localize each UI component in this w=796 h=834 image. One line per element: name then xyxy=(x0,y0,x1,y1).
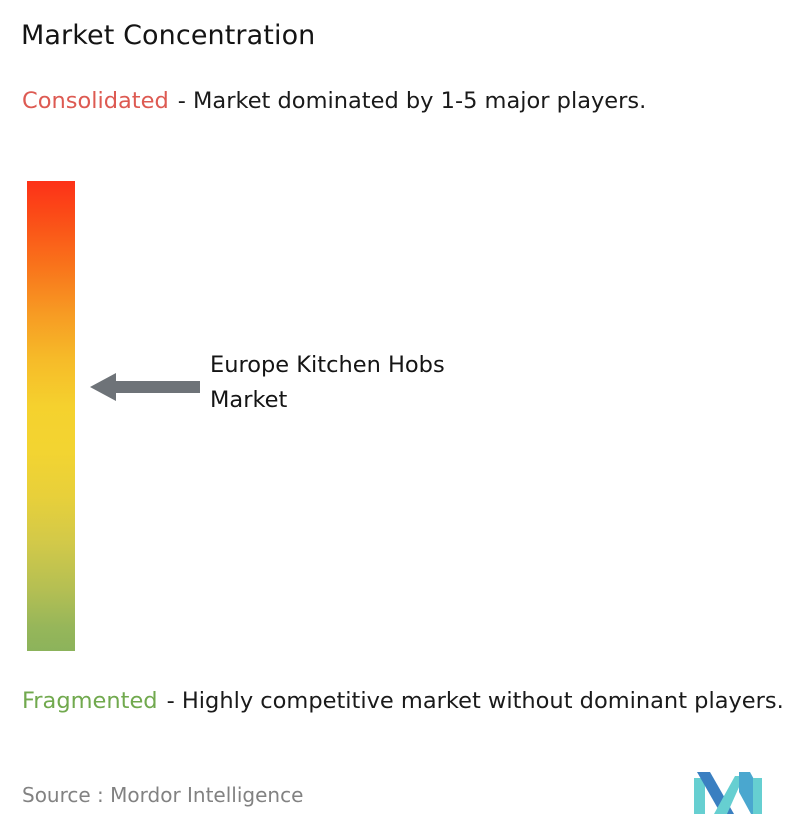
concentration-gradient-bar xyxy=(27,181,75,651)
market-concentration-infographic: Market Concentration Consolidated- Marke… xyxy=(0,0,796,834)
source-attribution: Source : Mordor Intelligence xyxy=(22,783,303,807)
fragmented-caption: Fragmented- Highly competitive market wi… xyxy=(22,686,784,717)
annotation-label: Europe Kitchen Hobs Market xyxy=(210,348,630,418)
fragmented-description: - Highly competitive market without domi… xyxy=(167,688,784,714)
left-arrow-icon xyxy=(90,370,200,404)
market-position-annotation: Europe Kitchen Hobs Market xyxy=(90,348,690,418)
annotation-label-line2: Market xyxy=(210,383,630,418)
fragmented-keyword: Fragmented xyxy=(22,688,158,714)
annotation-label-line1: Europe Kitchen Hobs xyxy=(210,348,630,383)
page-title: Market Concentration xyxy=(21,20,315,51)
consolidated-caption: Consolidated- Market dominated by 1-5 ma… xyxy=(22,86,764,117)
consolidated-description: - Market dominated by 1-5 major players. xyxy=(178,88,647,114)
mordor-intelligence-logo-icon xyxy=(694,772,762,814)
consolidated-keyword: Consolidated xyxy=(22,88,169,114)
